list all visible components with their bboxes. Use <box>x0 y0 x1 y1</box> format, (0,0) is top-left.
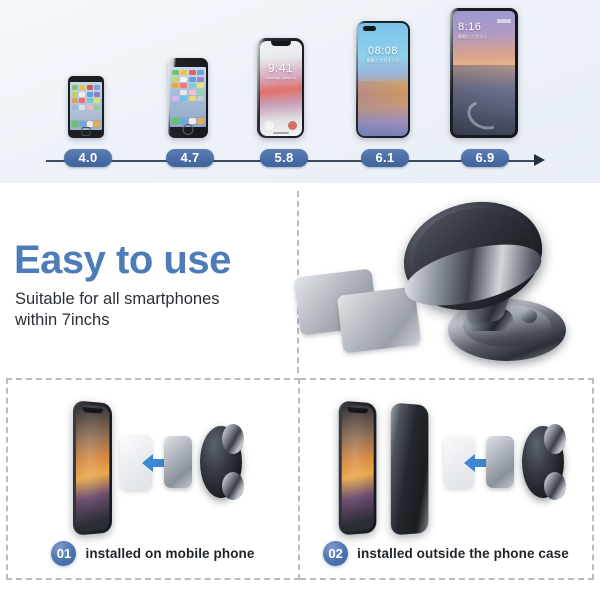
phone-figure-4-7 <box>168 58 208 138</box>
product-infographic: 9:41 Tuesday, June 12 08:08 星期二 六月十二日 <box>0 0 600 600</box>
mount-head-rim <box>544 472 566 500</box>
phone-figure-4-0 <box>68 76 104 138</box>
step-label-02: installed outside the phone case <box>357 546 569 561</box>
magnetic-car-mount-illustration <box>285 191 600 373</box>
phone-screen-time: 8:16 <box>458 21 481 33</box>
size-pill-5-8: 5.8 <box>260 149 308 167</box>
phone-screen-time: 9:41 <box>260 61 302 75</box>
phone-screen-date: 星期二 六月十二日 <box>358 58 408 64</box>
page-title: Easy to use <box>14 240 231 280</box>
right-arrow-icon <box>534 154 545 166</box>
install-panel-02: 02 installed outside the phone case <box>300 378 594 580</box>
phone-figure-6-9: 8:16 星期二 六月十二 <box>450 8 518 138</box>
step-badge-01: 01 <box>51 541 76 566</box>
metal-plate-icon <box>486 436 514 488</box>
size-pill-6-9: 6.9 <box>461 149 509 167</box>
phone-screen <box>342 404 374 532</box>
phone-illustration <box>73 400 112 536</box>
phone-notch <box>348 407 369 413</box>
phone-case-illustration <box>391 402 429 535</box>
phone-screen-date: 星期二 六月十二 <box>458 34 487 40</box>
metal-plate-icon <box>164 436 192 488</box>
phone-screen <box>76 404 109 533</box>
step-badge-02: 02 <box>323 541 348 566</box>
phone-figure-6-1: 08:08 星期二 六月十二日 <box>356 21 410 138</box>
size-pill-4-0: 4.0 <box>64 149 112 167</box>
size-pill-6-1: 6.1 <box>361 149 409 167</box>
mount-head-rim <box>222 472 244 500</box>
easy-to-use-section: Easy to use Suitable for all smartphones… <box>0 183 600 378</box>
installation-panels: 01 installed on mobile phone <box>0 378 600 583</box>
mount-head-rim <box>222 424 244 454</box>
install-panel-01: 01 installed on mobile phone <box>6 378 300 580</box>
size-pill-4-7: 4.7 <box>166 149 214 167</box>
panel-02-caption: 02 installed outside the phone case <box>300 541 592 566</box>
step-label-01: installed on mobile phone <box>85 546 254 561</box>
phone-illustration <box>339 400 377 535</box>
phone-screen-date: Tuesday, June 12 <box>260 75 302 80</box>
mount-head-rim <box>544 424 566 454</box>
phone-screen-time: 08:08 <box>358 45 408 57</box>
phone-size-timeline-section: 9:41 Tuesday, June 12 08:08 星期二 六月十二日 <box>0 0 600 183</box>
page-subtitle: Suitable for all smartphones within 7inc… <box>15 289 265 331</box>
panel-01-caption: 01 installed on mobile phone <box>8 541 298 566</box>
phone-figure-5-8: 9:41 Tuesday, June 12 <box>257 38 304 138</box>
phone-notch <box>83 407 103 414</box>
